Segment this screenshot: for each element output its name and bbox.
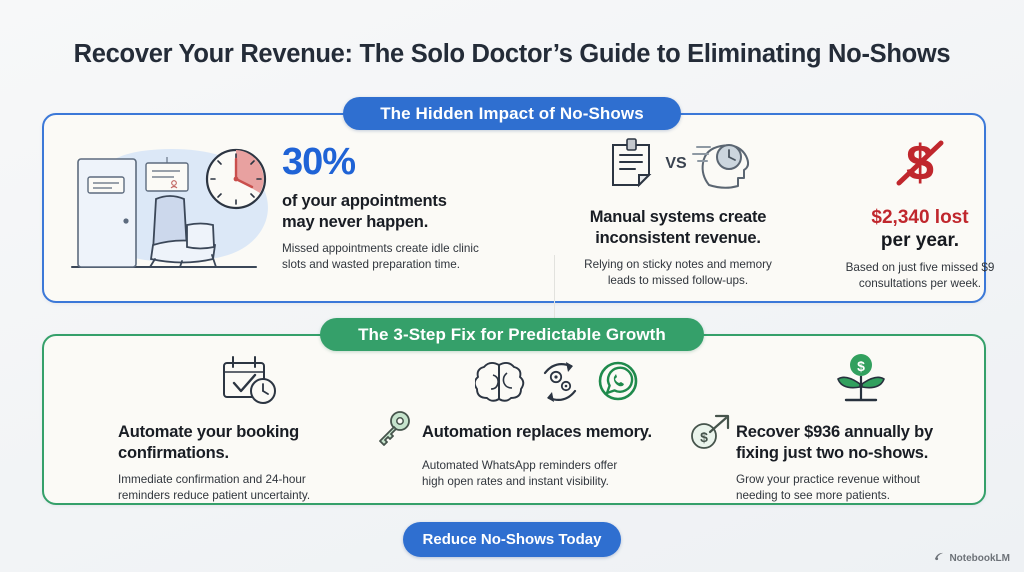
problem-2-sub-line2: leads to missed follow-ups.	[554, 273, 802, 289]
empty-waiting-room-illustration	[60, 133, 290, 288]
svg-text:$: $	[700, 429, 708, 445]
solution-column-1: Automate your booking confirmations. Imm…	[118, 354, 380, 505]
solution-2-sub-line1: Automated WhatsApp reminders offer	[422, 458, 694, 474]
problem-1-sub-line2: slots and wasted preparation time.	[282, 257, 512, 273]
solution-1-headline-line2: confirmations.	[118, 443, 380, 464]
problem-1-headline-line1: of your appointments	[282, 191, 512, 212]
problem-column-2: VS Manual systems create inconsistent re…	[554, 133, 802, 290]
infographic-page: Recover Your Revenue: The Solo Doctor’s …	[0, 0, 1024, 572]
solution-3-headline-line2: fixing just two no-shows.	[736, 443, 986, 464]
problem-1-sub-line1: Missed appointments create idle clinic	[282, 241, 512, 257]
problem-panel: 30% of your appointments may never happe…	[42, 113, 986, 303]
solution-panel: Automate your booking confirmations. Imm…	[42, 334, 986, 505]
problem-column-3: $ $2,340 lost per year. Based on just fi…	[806, 133, 1024, 292]
key-icon	[374, 410, 412, 451]
notebooklm-logo-icon	[934, 551, 945, 565]
stat-money-lost-period: per year.	[806, 230, 1024, 253]
svg-text:$: $	[857, 358, 865, 374]
problem-section-badge: The Hidden Impact of No-Shows	[343, 97, 681, 130]
solution-1-sub-line2: reminders reduce patient uncertainty.	[118, 488, 380, 504]
problem-3-sub-line2: consultations per week.	[806, 276, 1024, 292]
reduce-no-shows-cta-button[interactable]: Reduce No-Shows Today	[403, 522, 621, 557]
problem-2-headline-line2: inconsistent revenue.	[554, 228, 802, 249]
solution-section-badge: The 3-Step Fix for Predictable Growth	[320, 318, 704, 351]
vs-label: VS	[665, 155, 686, 173]
solution-3-sub-line1: Grow your practice revenue without	[736, 472, 986, 488]
solution-2-sub-line2: high open rates and instant visibility.	[422, 474, 694, 490]
stat-percentage: 30%	[282, 143, 512, 181]
page-title: Recover Your Revenue: The Solo Doctor’s …	[0, 40, 1024, 69]
notebooklm-watermark: NotebookLM	[934, 551, 1010, 565]
problem-1-headline-line2: may never happen.	[282, 212, 512, 233]
crossed-out-dollar-icon: $	[806, 133, 1024, 195]
watermark-label: NotebookLM	[949, 553, 1010, 564]
solution-3-sub-line2: needing to see more patients.	[736, 488, 986, 504]
brain-gears-whatsapp-icon	[422, 354, 694, 410]
solution-column-3: $ Recover $936 annually by fixing just t…	[736, 354, 986, 505]
solution-1-headline-line1: Automate your booking	[118, 422, 380, 443]
solution-1-sub-line1: Immediate confirmation and 24-hour	[118, 472, 380, 488]
money-plant-icon: $	[736, 354, 986, 410]
problem-3-sub-line1: Based on just five missed $9	[806, 260, 1024, 276]
sticky-note-vs-clock-head-icon: VS	[554, 133, 802, 195]
problem-2-headline-line1: Manual systems create	[554, 207, 802, 228]
solution-2-headline-line1: Automation replaces memory.	[422, 422, 694, 443]
solution-column-2: Automation replaces memory. Automated Wh…	[422, 354, 694, 490]
calendar-check-clock-icon	[118, 354, 380, 410]
solution-3-headline-line1: Recover $936 annually by	[736, 422, 986, 443]
problem-column-1-text: 30% of your appointments may never happe…	[282, 143, 512, 274]
problem-2-sub-line1: Relying on sticky notes and memory	[554, 257, 802, 273]
dollar-growth-arrow-icon: $	[688, 412, 732, 457]
stat-money-lost: $2,340 lost	[806, 207, 1024, 230]
